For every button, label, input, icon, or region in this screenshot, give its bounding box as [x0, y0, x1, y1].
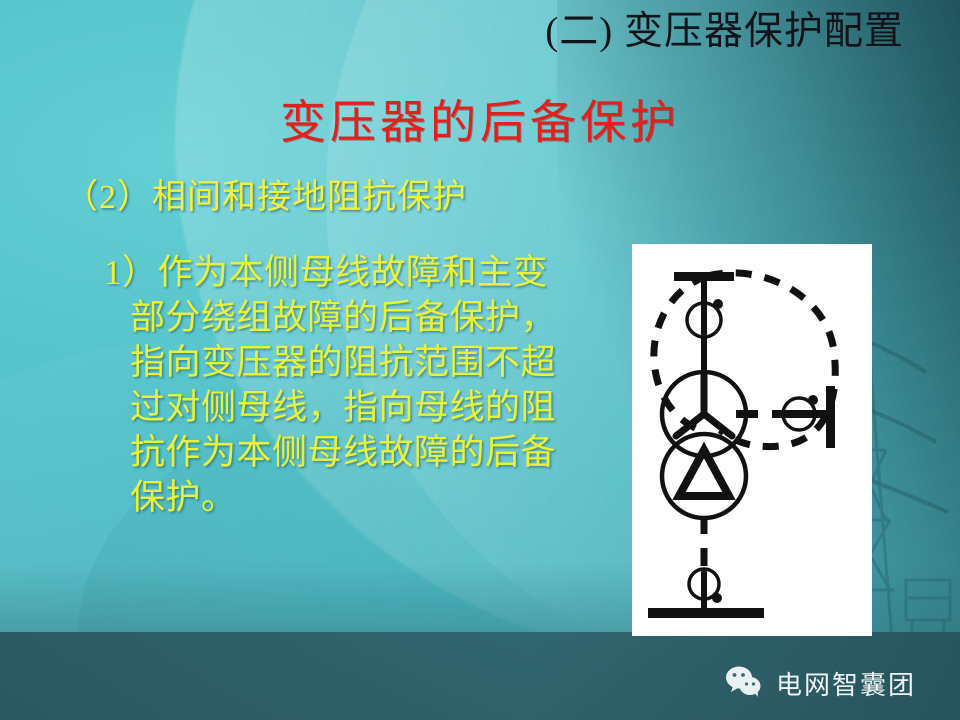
- section-subtitle: （2）相间和接地阻抗保护: [64, 178, 467, 219]
- body-line: 保护。: [104, 475, 614, 520]
- circuit-diagram-svg: [632, 244, 872, 636]
- page-title: (二) 变压器保护配置: [545, 8, 904, 57]
- main-title: 变压器的后备保护: [0, 98, 960, 149]
- top-vertical-line: [701, 274, 707, 378]
- body-line: 指向变压器的阻抗范围不超: [104, 340, 614, 385]
- body-line: 抗作为本侧母线故障的后备: [104, 430, 614, 475]
- watermark: 电网智囊团: [724, 665, 916, 702]
- body-line: 部分绕组故障的后备保护，: [104, 295, 614, 340]
- body-line: 1）作为本侧母线故障和主变: [104, 250, 614, 295]
- top-ct-polarity-dot: [713, 299, 723, 309]
- body-line: 过对侧母线，指向母线的阻: [104, 385, 614, 430]
- delta-winding-circle: [662, 434, 746, 518]
- circuit-diagram-panel: [632, 244, 872, 636]
- bottom-busbar: [648, 608, 764, 618]
- bottom-vertical-line: [701, 568, 707, 614]
- wechat-icon: [724, 665, 764, 702]
- right-ct-polarity-dot: [808, 395, 818, 405]
- right-busbar: [826, 386, 835, 448]
- slide-canvas: (二) 变压器保护配置 变压器的后备保护 （2）相间和接地阻抗保护 1）作为本侧…: [0, 0, 960, 720]
- watermark-account-name: 电网智囊团: [776, 665, 916, 702]
- bottom-ct-polarity-dot: [712, 593, 722, 603]
- body-text-block: 1）作为本侧母线故障和主变 部分绕组故障的后备保护， 指向变压器的阻抗范围不超 …: [104, 250, 614, 520]
